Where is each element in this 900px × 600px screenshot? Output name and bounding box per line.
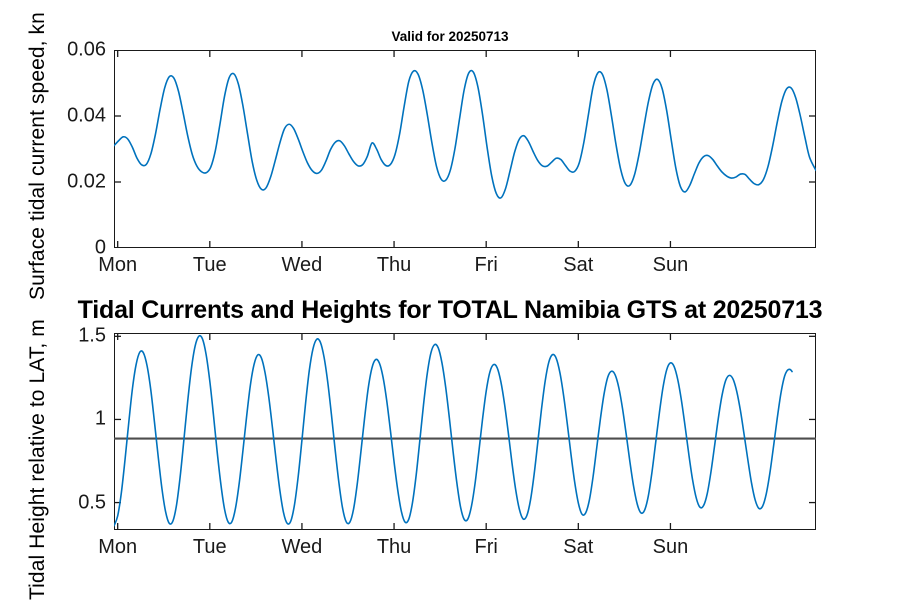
- x-tick-label: Tue: [193, 536, 227, 559]
- page-title: Tidal Currents and Heights for TOTAL Nam…: [0, 296, 900, 325]
- y-tick-label: 1.5: [78, 325, 106, 348]
- axes-current-speed: [114, 50, 816, 248]
- x-tick-label: Fri: [475, 536, 498, 559]
- y-tick-label: 0.5: [78, 491, 106, 514]
- x-tick-label: Thu: [377, 254, 411, 277]
- plot-area-tidal-height: [114, 333, 816, 530]
- tidal-figure: Surface tidal current speed, kn Valid fo…: [0, 0, 900, 600]
- x-tick-label: Thu: [377, 536, 411, 559]
- y-tick-label: 1: [95, 408, 106, 431]
- x-tick-label: Mon: [98, 254, 137, 277]
- x-tick-label: Sat: [563, 536, 593, 559]
- x-tick-label: Sun: [653, 254, 689, 277]
- x-tick-label: Wed: [282, 536, 323, 559]
- x-tick-label: Wed: [282, 254, 323, 277]
- y-tick-labels-tidal-height: 0.511.5: [60, 333, 106, 530]
- x-tick-label: Fri: [475, 254, 498, 277]
- y-tick-label: 0.04: [67, 105, 106, 128]
- x-tick-label: Sun: [653, 536, 689, 559]
- y-tick-label: 0.06: [67, 39, 106, 62]
- axes-tidal-height: [114, 333, 816, 530]
- x-tick-label: Tue: [193, 254, 227, 277]
- x-tick-labels-tidal-height: MonTueWedThuFriSatSun: [114, 536, 816, 562]
- y-tick-labels-current-speed: 00.020.040.06: [60, 50, 106, 248]
- chart-subtitle-valid-for: Valid for 20250713: [0, 29, 900, 44]
- x-tick-label: Mon: [98, 536, 137, 559]
- y-tick-label: 0.02: [67, 171, 106, 194]
- plot-area-current-speed: [114, 50, 816, 248]
- y-axis-label-tidal-height: Tidal Height relative to LAT, m: [26, 319, 50, 600]
- y-axis-label-current-speed: Surface tidal current speed, kn: [26, 12, 50, 300]
- x-tick-labels-current-speed: MonTueWedThuFriSatSun: [114, 254, 816, 280]
- x-tick-label: Sat: [563, 254, 593, 277]
